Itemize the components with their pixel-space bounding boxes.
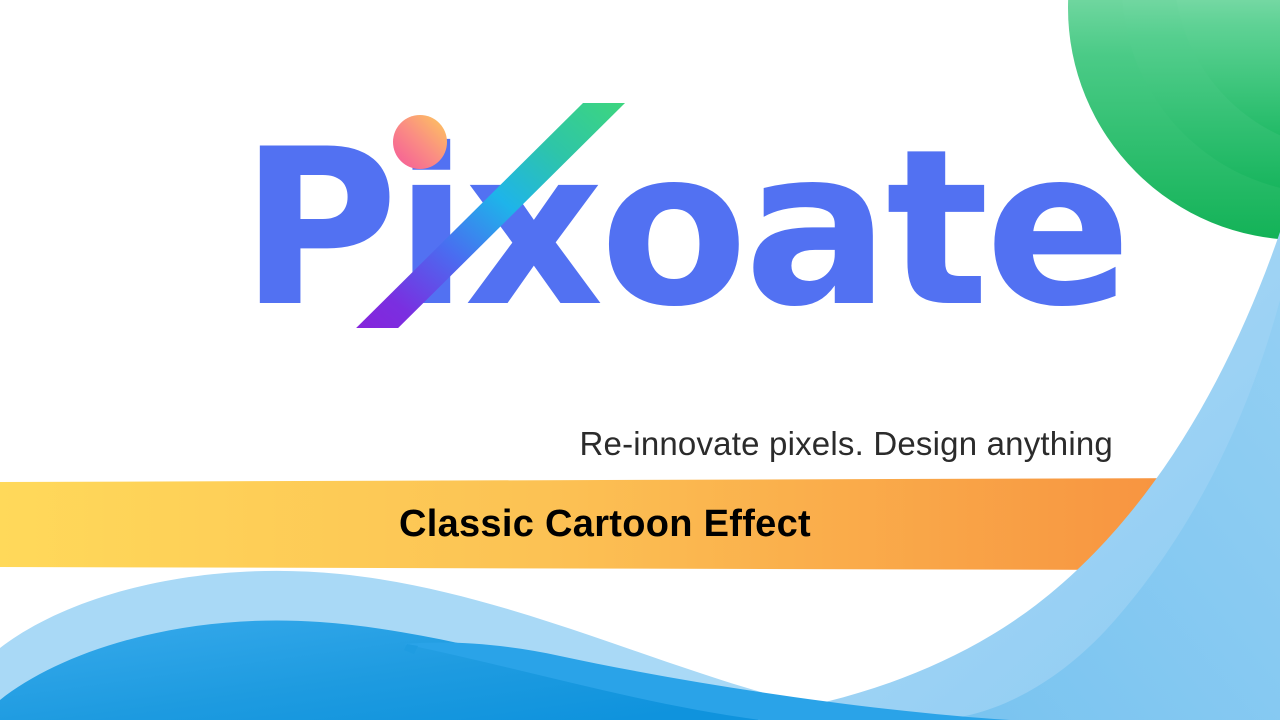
- banner-title: Classic Cartoon Effect: [0, 478, 1210, 570]
- brand-tagline: Re-innovate pixels. Design anything: [0, 425, 1113, 463]
- brand-logo: Pixoate Re-innovate pixels. Design anyth…: [0, 88, 1280, 328]
- wordmark-label: Pixoate: [240, 103, 1128, 328]
- wave-light-left: [0, 581, 1080, 720]
- logo-dot-accent: [393, 115, 447, 169]
- slide-canvas: Pixoate Re-innovate pixels. Design anyth…: [0, 0, 1280, 720]
- wave-dark-tick: [404, 644, 418, 654]
- wave-dark-front: [0, 620, 760, 720]
- section-banner: Classic Cartoon Effect: [0, 478, 1280, 570]
- wave-dark-sliver: [404, 643, 1010, 720]
- wordmark-graphic: Pixoate: [0, 88, 1280, 328]
- wave-light-crest: [0, 571, 1120, 720]
